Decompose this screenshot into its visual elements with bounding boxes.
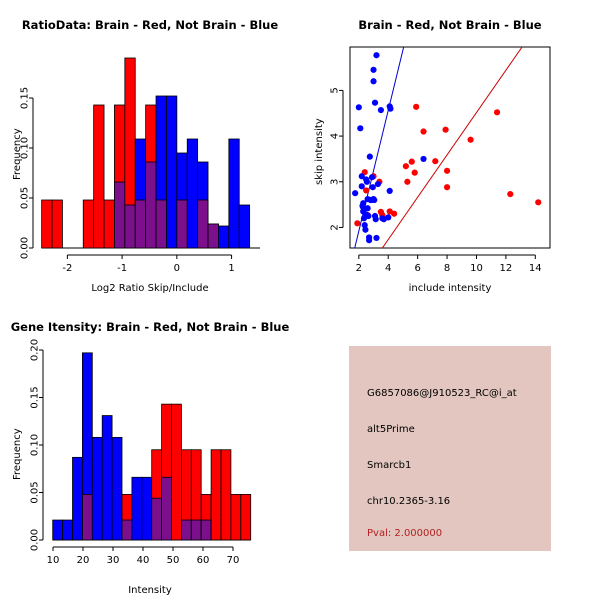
scatter-x-tick-label: 10 bbox=[470, 263, 483, 274]
scatter-point bbox=[371, 197, 377, 203]
gene-hist-x-tick-label: 70 bbox=[227, 555, 240, 566]
scatter-x-tick-label: 6 bbox=[414, 263, 420, 274]
scatter-x-tick-label: 8 bbox=[444, 263, 450, 274]
gene-histogram-panel: Gene Itensity: Brain - Red, Not Brain - … bbox=[0, 300, 300, 600]
scatter-point bbox=[420, 156, 426, 162]
ratio-hist-bar bbox=[239, 205, 249, 248]
ratio-hist-bar bbox=[52, 200, 62, 248]
scatter-point bbox=[352, 190, 358, 196]
gene-histogram-canvas: 102030405060700.000.050.100.150.20 bbox=[0, 300, 300, 600]
gene-hist-bar bbox=[112, 437, 122, 540]
gene-histogram-ylabel: Frequency bbox=[12, 428, 23, 480]
ratio-hist-bar bbox=[83, 200, 93, 248]
scatter-point bbox=[364, 179, 370, 185]
gene-hist-x-tick-label: 50 bbox=[167, 555, 180, 566]
scatter-y-tick-label: 3 bbox=[330, 179, 341, 185]
ratio-hist-bar bbox=[229, 139, 239, 248]
scatter-y-tick-label: 2 bbox=[330, 224, 341, 230]
scatter-point bbox=[409, 159, 415, 165]
ratio-hist-y-tick-label: 0.15 bbox=[20, 87, 31, 109]
gene-info-box: G6857086@J910523_RC@i_at alt5Prime Smarc… bbox=[349, 346, 551, 551]
scatter-point bbox=[365, 213, 371, 219]
gene-hist-bar bbox=[92, 437, 102, 540]
gene-histogram-xlabel: Intensity bbox=[0, 585, 300, 596]
gene-hist-x-tick-label: 20 bbox=[77, 555, 90, 566]
gene-hist-y-tick-label: 0.00 bbox=[30, 529, 41, 551]
scatter-point bbox=[387, 106, 393, 112]
gene-hist-bar bbox=[211, 450, 221, 540]
gene-hist-bar-overlap bbox=[82, 494, 92, 540]
plot-page: RatioData: Brain - Red, Not Brain - Blue… bbox=[0, 0, 600, 600]
scatter-point bbox=[444, 168, 450, 174]
ratio-hist-bar bbox=[94, 105, 104, 248]
gene-hist-bar bbox=[73, 457, 83, 540]
pval-text: Pval: 2.000000 bbox=[367, 528, 442, 539]
gene-info-panel: G6857086@J910523_RC@i_at alt5Prime Smarc… bbox=[300, 300, 600, 600]
ratio-histogram-canvas: -2-1010.000.050.100.15 bbox=[0, 0, 300, 300]
scatter-point bbox=[359, 203, 365, 209]
scatter-point bbox=[494, 109, 500, 115]
scatter-point bbox=[412, 170, 418, 176]
scatter-canvas: 24681012142345 bbox=[300, 0, 600, 300]
scatter-point bbox=[420, 128, 426, 134]
gene-hist-x-tick-label: 60 bbox=[197, 555, 210, 566]
gene-hist-y-tick-label: 0.20 bbox=[30, 339, 41, 361]
scatter-x-tick-label: 4 bbox=[385, 263, 391, 274]
scatter-point bbox=[507, 191, 513, 197]
ratio-hist-bar-overlap bbox=[125, 205, 135, 248]
ratio-hist-bar bbox=[42, 200, 52, 248]
ratio-histogram-panel: RatioData: Brain - Red, Not Brain - Blue… bbox=[0, 0, 300, 300]
gene-hist-bar-overlap bbox=[191, 520, 201, 540]
scatter-point bbox=[404, 179, 410, 185]
scatter-point bbox=[413, 104, 419, 110]
ratio-hist-bar-overlap bbox=[135, 200, 145, 248]
event-type-text: alt5Prime bbox=[367, 424, 415, 435]
scatter-point bbox=[467, 137, 473, 143]
gene-hist-bar-overlap bbox=[152, 498, 162, 540]
ratio-hist-bar-overlap bbox=[146, 162, 156, 248]
scatter-point bbox=[444, 184, 450, 190]
gene-hist-y-tick-label: 0.15 bbox=[30, 386, 41, 408]
scatter-point bbox=[373, 216, 379, 222]
scatter-point bbox=[366, 237, 372, 243]
locus-text: chr10.2365-3.16 bbox=[367, 496, 450, 507]
gene-hist-x-tick-label: 40 bbox=[137, 555, 150, 566]
scatter-point bbox=[370, 184, 376, 190]
scatter-point bbox=[375, 181, 381, 187]
scatter-ylabel: skip intensity bbox=[314, 118, 325, 185]
gene-hist-bar-overlap bbox=[181, 520, 191, 540]
scatter-point bbox=[373, 52, 379, 58]
gene-hist-x-tick-label: 30 bbox=[107, 555, 120, 566]
ratio-hist-bar bbox=[218, 226, 228, 248]
scatter-point bbox=[378, 107, 384, 113]
scatter-point bbox=[354, 220, 360, 226]
gene-hist-bar bbox=[241, 494, 251, 540]
scatter-point bbox=[367, 154, 373, 160]
gene-hist-bar bbox=[142, 477, 152, 540]
scatter-y-tick-label: 5 bbox=[330, 87, 341, 93]
ratio-hist-x-tick-label: 1 bbox=[228, 263, 234, 274]
scatter-point bbox=[372, 100, 378, 106]
ratio-hist-bar bbox=[166, 96, 176, 248]
gene-hist-bar bbox=[63, 520, 73, 540]
ratio-hist-bar-overlap bbox=[156, 200, 166, 248]
gene-hist-bar bbox=[221, 450, 231, 540]
scatter-point bbox=[387, 208, 393, 214]
scatter-point bbox=[370, 67, 376, 73]
scatter-point bbox=[373, 235, 379, 241]
scatter-point bbox=[360, 208, 366, 214]
scatter-panel: Brain - Red, Not Brain - Blue 2468101214… bbox=[300, 0, 600, 300]
scatter-point bbox=[362, 227, 368, 233]
ratio-hist-y-tick-label: 0.00 bbox=[20, 237, 31, 259]
ratio-hist-bar bbox=[104, 200, 114, 248]
scatter-point bbox=[535, 199, 541, 205]
scatter-point bbox=[442, 127, 448, 133]
scatter-xlabel: include intensity bbox=[300, 283, 600, 294]
gene-hist-bar bbox=[53, 520, 63, 540]
ratio-hist-x-tick-label: -2 bbox=[62, 263, 72, 274]
probe-id-text: G6857086@J910523_RC@i_at bbox=[367, 388, 517, 399]
ratio-hist-bar-overlap bbox=[208, 224, 218, 248]
gene-hist-bar bbox=[132, 477, 142, 540]
gene-hist-bar-overlap bbox=[162, 477, 172, 540]
ratio-hist-bar-overlap bbox=[177, 200, 187, 248]
ratio-hist-x-tick-label: 0 bbox=[174, 263, 180, 274]
scatter-point bbox=[359, 183, 365, 189]
scatter-point bbox=[357, 125, 363, 131]
scatter-point bbox=[369, 174, 375, 180]
ratio-hist-bar-overlap bbox=[198, 200, 208, 248]
scatter-point bbox=[403, 163, 409, 169]
scatter-point bbox=[356, 104, 362, 110]
ratio-hist-y-tick-label: 0.05 bbox=[20, 187, 31, 209]
scatter-brain-fit-line bbox=[382, 47, 522, 248]
ratio-histogram-ylabel: Frequency bbox=[12, 128, 23, 180]
ratio-hist-bar bbox=[187, 139, 197, 248]
ratio-histogram-xlabel: Log2 Ratio Skip/Include bbox=[0, 283, 300, 294]
scatter-x-tick-label: 2 bbox=[356, 263, 362, 274]
scatter-point bbox=[370, 78, 376, 84]
scatter-x-tick-label: 14 bbox=[529, 263, 542, 274]
scatter-point bbox=[432, 158, 438, 164]
gene-hist-y-tick-label: 0.05 bbox=[30, 481, 41, 503]
gene-hist-x-tick-label: 10 bbox=[47, 555, 60, 566]
scatter-x-tick-label: 12 bbox=[500, 263, 513, 274]
gene-hist-bar-overlap bbox=[201, 520, 211, 540]
gene-hist-bar-overlap bbox=[122, 520, 132, 540]
gene-symbol-text: Smarcb1 bbox=[367, 460, 411, 471]
scatter-y-tick-label: 4 bbox=[330, 133, 341, 139]
scatter-point bbox=[387, 188, 393, 194]
gene-hist-y-tick-label: 0.10 bbox=[30, 434, 41, 456]
gene-hist-bar bbox=[172, 404, 182, 540]
ratio-hist-bar-overlap bbox=[114, 182, 124, 248]
gene-hist-bar bbox=[102, 416, 112, 540]
scatter-point bbox=[385, 214, 391, 220]
gene-hist-bar bbox=[231, 494, 241, 540]
ratio-hist-x-tick-label: -1 bbox=[117, 263, 127, 274]
